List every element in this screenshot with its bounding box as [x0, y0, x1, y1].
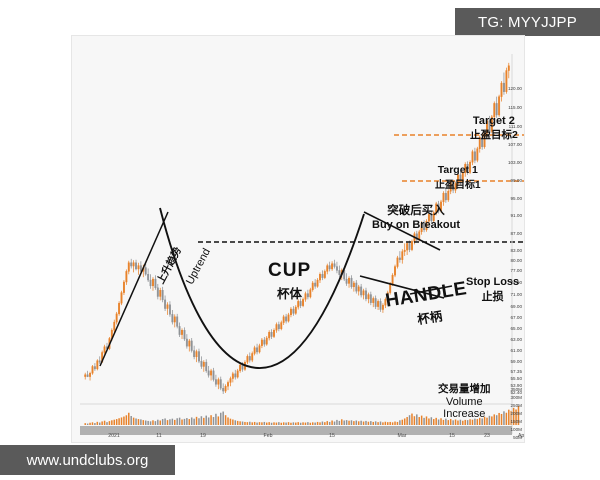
- date-axis-tick: Mar: [398, 433, 407, 439]
- annotation-volume-increase-en1: Volume: [438, 396, 491, 408]
- volume-axis-tick: 300M: [511, 396, 523, 401]
- annotation-cup-zh: 杯体: [268, 283, 311, 302]
- price-axis-tick: 103.00: [508, 161, 522, 166]
- date-axis-band: [80, 426, 512, 435]
- telegram-handle-text: TG: MYYJJPP: [478, 14, 577, 31]
- price-axis-tick: 59.00: [511, 360, 523, 365]
- annotation-target-2-zh: 止盈目标2: [470, 127, 518, 142]
- annotation-target-1: Target 1 止盈目标1: [435, 164, 481, 191]
- date-axis-tick: 15: [449, 433, 455, 439]
- price-axis-tick: 95.00: [511, 197, 523, 202]
- date-axis-tick: Apr: [518, 433, 524, 439]
- price-axis-tick: 83.00: [511, 249, 523, 254]
- chart-card: 交易 交易流水 120.00115.00111.00107.00103.0099…: [72, 36, 524, 442]
- date-axis-tick: 23: [484, 433, 490, 439]
- annotation-buy-on-breakout-en: Buy on Breakout: [372, 219, 460, 231]
- annotation-volume-increase-zh: 交易量增加: [438, 381, 491, 396]
- volume-axis-tick: 150M: [511, 420, 523, 425]
- annotation-target-2: Target 2 止盈目标2: [470, 115, 518, 142]
- price-axis-tick: 55.50: [511, 377, 523, 382]
- price-axis-tick: 80.00: [511, 259, 523, 264]
- website-url-text: www.undclubs.org: [27, 452, 149, 469]
- annotation-target-1-zh: 止盈目标1: [435, 176, 481, 191]
- price-axis-tick: 115.00: [508, 106, 522, 111]
- volume-axis-tick: 100M: [511, 428, 523, 433]
- website-url-ribbon: www.undclubs.org: [0, 445, 175, 475]
- date-axis-tick: 19: [200, 433, 206, 439]
- volume-axis-tick: 250M: [511, 404, 523, 409]
- volume-axis-tick: 350M: [511, 388, 523, 393]
- annotation-stop-loss-en: Stop Loss: [466, 276, 519, 288]
- annotation-stop-loss: Stop Loss 止损: [466, 276, 519, 304]
- price-axis-tick: 63.00: [511, 338, 523, 343]
- price-axis-tick: 57.35: [511, 370, 523, 375]
- annotation-buy-on-breakout: 突破后买入 Buy on Breakout: [372, 202, 460, 231]
- price-axis-tick: 87.00: [511, 232, 523, 237]
- annotation-cup-en: CUP: [268, 260, 311, 282]
- date-axis-tick: 11: [156, 433, 161, 439]
- annotation-stop-loss-zh: 止损: [466, 288, 519, 304]
- telegram-handle-badge: TG: MYYJJPP: [455, 8, 600, 36]
- annotation-volume-increase-en2: Increase: [438, 408, 491, 420]
- date-axis-tick: 15: [329, 433, 335, 439]
- annotation-target-2-en: Target 2: [470, 115, 518, 127]
- price-axis-tick: 120.00: [508, 87, 522, 92]
- annotation-target-1-en: Target 1: [435, 164, 481, 176]
- price-axis-tick: 91.00: [511, 214, 523, 219]
- date-axis-tick: 2021: [108, 433, 120, 439]
- annotation-volume-increase: 交易量增加 Volume Increase: [438, 381, 491, 420]
- price-axis-tick: 69.00: [511, 305, 523, 310]
- date-axis-tick: Feb: [264, 433, 273, 439]
- price-axis-tick: 99.00: [511, 179, 523, 184]
- price-axis-tick: 61.00: [511, 349, 523, 354]
- annotation-cup: CUP 杯体: [268, 260, 311, 302]
- volume-axis-tick: 200M: [511, 412, 523, 417]
- price-axis-tick: 65.00: [511, 327, 523, 332]
- annotation-buy-on-breakout-zh: 突破后买入: [372, 202, 460, 218]
- price-axis-tick: 107.00: [508, 143, 522, 148]
- price-axis-tick: 77.00: [511, 269, 523, 274]
- price-axis-tick: 67.00: [511, 316, 523, 321]
